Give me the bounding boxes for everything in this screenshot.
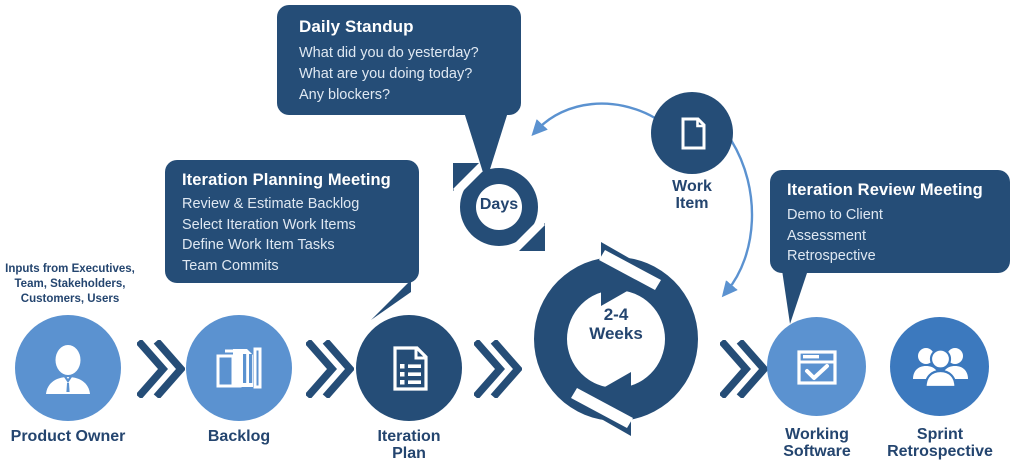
chevron-plan-to-cycle <box>474 340 522 398</box>
daily-standup-line-2: What are you doing today? <box>299 64 521 85</box>
agile-process-diagram: 2-4 Weeks Days Daily Standup What did yo… <box>0 0 1024 475</box>
work-item-circle[interactable] <box>651 92 733 174</box>
daily-standup-bubble-tail <box>462 112 510 184</box>
documents-icon <box>211 340 267 396</box>
product-owner-circle[interactable] <box>15 315 121 421</box>
people-group-icon <box>911 340 969 394</box>
iteration-review-title: Iteration Review Meeting <box>787 181 1010 200</box>
chevron-owner-to-backlog <box>137 340 185 398</box>
backlog-label: Backlog <box>171 428 307 445</box>
document-icon <box>670 111 714 155</box>
iteration-review-line-1: Demo to Client <box>787 205 1010 226</box>
sprint-retrospective-circle[interactable] <box>890 317 989 416</box>
chevron-backlog-to-plan <box>306 340 354 398</box>
chevron-cycle-to-software <box>720 340 768 398</box>
workitem-to-cycle-arrow <box>727 140 752 291</box>
iteration-planning-bubble: Iteration Planning Meeting Review & Esti… <box>165 160 419 283</box>
backlog-circle[interactable] <box>186 315 292 421</box>
iteration-review-line-2: Assessment <box>787 226 1010 247</box>
iteration-review-bubble: Iteration Review Meeting Demo to Client … <box>770 170 1010 273</box>
checklist-document-icon <box>381 340 437 396</box>
work-item-label: Work Item <box>624 178 760 213</box>
workitem-to-days-arrow <box>537 104 655 130</box>
iteration-planning-line-3: Define Work Item Tasks <box>182 235 419 256</box>
daily-standup-line-1: What did you do yesterday? <box>299 43 521 64</box>
sprint-retrospective-label: Sprint Retrospective <box>872 426 1008 461</box>
working-software-circle[interactable] <box>767 317 866 416</box>
iteration-planning-line-4: Team Commits <box>182 256 419 277</box>
iteration-planning-line-2: Select Iteration Work Items <box>182 215 419 236</box>
days-cycle-label: Days <box>455 196 543 214</box>
daily-standup-title: Daily Standup <box>299 17 521 37</box>
inputs-note: Inputs from Executives, Team, Stakeholde… <box>0 262 140 308</box>
iteration-planning-title: Iteration Planning Meeting <box>182 171 419 190</box>
product-owner-label: Product Owner <box>0 428 136 445</box>
working-software-label: Working Software <box>749 426 885 461</box>
iteration-review-line-3: Retrospective <box>787 246 1010 267</box>
iteration-cycle-label: 2-4 Weeks <box>566 306 666 343</box>
iteration-planning-line-1: Review & Estimate Backlog <box>182 194 419 215</box>
daily-standup-line-3: Any blockers? <box>299 85 521 106</box>
browser-check-icon <box>791 341 843 393</box>
daily-standup-bubble: Daily Standup What did you do yesterday?… <box>277 5 521 115</box>
iteration-plan-label: Iteration Plan <box>341 428 477 463</box>
iteration-plan-circle[interactable] <box>356 315 462 421</box>
person-icon <box>40 340 96 396</box>
